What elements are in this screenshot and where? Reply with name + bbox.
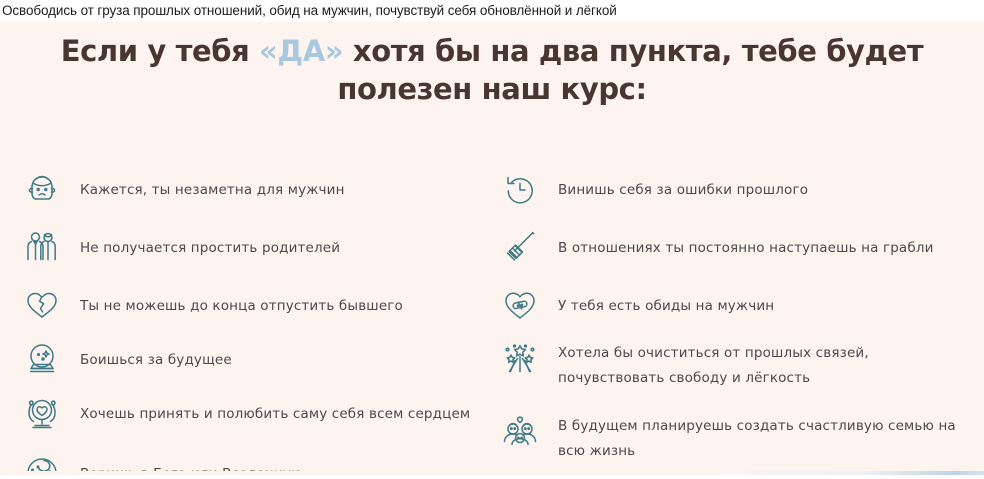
list-item-label: В отношениях ты постоянно наступаешь на …	[540, 227, 978, 261]
rake-icon	[500, 227, 540, 267]
list-item-label: Боишься за будущее	[62, 339, 492, 373]
sad-woman-face-icon	[22, 169, 62, 209]
bottom-edge-strip	[0, 471, 984, 475]
heart-bandage-icon	[500, 285, 540, 325]
list-item-label: Не получается простить родителей	[62, 227, 492, 261]
promo-screenshot: Освободись от груза прошлых отношений, о…	[0, 0, 984, 479]
checklist-columns: Кажется, ты незаметна для мужчин	[0, 127, 984, 475]
list-item[interactable]: Ты не можешь до конца отпустить бывшего	[22, 285, 492, 325]
list-item[interactable]: У тебя есть обиды на мужчин	[500, 285, 978, 325]
list-item[interactable]: Хотела бы очиститься от прошлых связей, …	[500, 339, 978, 391]
list-item-label: У тебя есть обиды на мужчин	[540, 285, 978, 319]
crystal-ball-icon	[22, 339, 62, 379]
heading-part-before: Если у тебя	[61, 34, 259, 68]
broken-heart-icon	[22, 285, 62, 325]
list-item[interactable]: Не получается простить родителей	[22, 227, 492, 267]
list-item[interactable]: В будущем планируешь создать счастливую …	[500, 412, 978, 464]
heart-globe-icon	[22, 393, 62, 433]
heading-accent-da: «ДА»	[259, 34, 343, 68]
parents-couple-icon	[22, 227, 62, 267]
list-item-label: Хотела бы очиститься от прошлых связей, …	[540, 339, 978, 391]
heading-part-after: хотя бы на два пункта, тебе будет	[343, 34, 923, 68]
list-item[interactable]: Кажется, ты незаметна для мужчин	[22, 169, 492, 209]
list-item-label: Хочешь принять и полюбить саму себя всем…	[62, 393, 492, 427]
list-item[interactable]: В отношениях ты постоянно наступаешь на …	[500, 227, 978, 267]
list-item-label: Винишь себя за ошибки прошлого	[540, 169, 978, 203]
list-item-label: Ты не можешь до конца отпустить бывшего	[62, 285, 492, 319]
list-item[interactable]: Винишь себя за ошибки прошлого	[500, 169, 978, 209]
page-title: Если у тебя «ДА» хотя бы на два пункта, …	[0, 32, 984, 108]
family-heart-icon	[500, 412, 540, 452]
fireworks-icon	[500, 339, 540, 379]
promo-panel: Если у тебя «ДА» хотя бы на два пункта, …	[0, 22, 984, 475]
list-item-label: Кажется, ты незаметна для мужчин	[62, 169, 492, 203]
caption-text: Освободись от груза прошлых отношений, о…	[0, 3, 617, 19]
list-item[interactable]: Хочешь принять и полюбить саму себя всем…	[22, 393, 492, 433]
clock-rewind-icon	[500, 169, 540, 209]
caption-bar: Освободись от груза прошлых отношений, о…	[0, 0, 984, 22]
list-item[interactable]: Боишься за будущее	[22, 339, 492, 379]
heading-line-2: полезен наш курс:	[0, 70, 984, 108]
list-item-label: В будущем планируешь создать счастливую …	[540, 412, 978, 464]
